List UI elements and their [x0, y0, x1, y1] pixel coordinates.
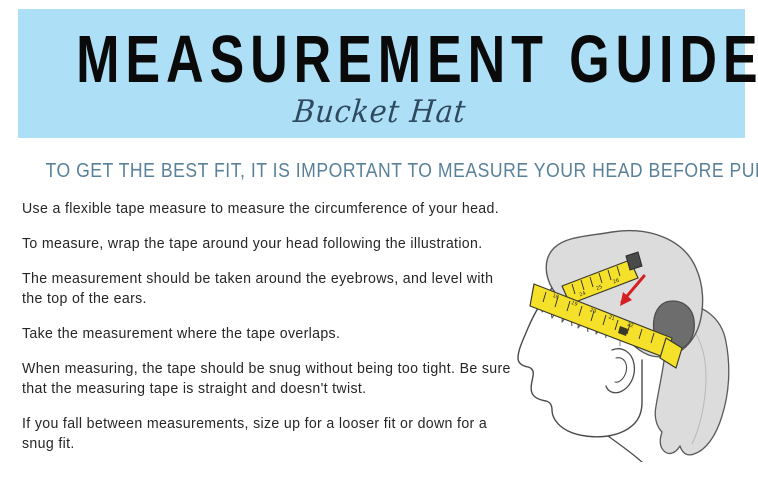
- product-subtitle: Bucket Hat: [44, 95, 716, 129]
- page-title: MEASUREMENT GUIDE: [76, 27, 687, 94]
- instruction-paragraph: When measuring, the tape should be snug …: [22, 359, 512, 399]
- instruction-paragraph: Take the measurement where the tape over…: [22, 324, 512, 344]
- instruction-paragraph: Use a flexible tape measure to measure t…: [22, 199, 512, 219]
- ear-shape: [606, 349, 634, 393]
- lead-in-text: TO GET THE BEST FIT, IT IS IMPORTANT TO …: [45, 160, 712, 182]
- instruction-paragraph: If you fall between measurements, size u…: [22, 414, 512, 454]
- instructions-list: Use a flexible tape measure to measure t…: [22, 199, 527, 454]
- head-measurement-illustration: 24 25 26: [516, 226, 752, 462]
- ear-inner: [615, 358, 627, 382]
- instruction-paragraph: To measure, wrap the tape around your he…: [22, 234, 512, 254]
- instruction-paragraph: The measurement should be taken around t…: [22, 269, 512, 309]
- header-band: MEASUREMENT GUIDE Bucket Hat: [18, 9, 745, 138]
- measurement-guide-page: MEASUREMENT GUIDE Bucket Hat TO GET THE …: [0, 0, 758, 504]
- neck-line: [608, 436, 644, 462]
